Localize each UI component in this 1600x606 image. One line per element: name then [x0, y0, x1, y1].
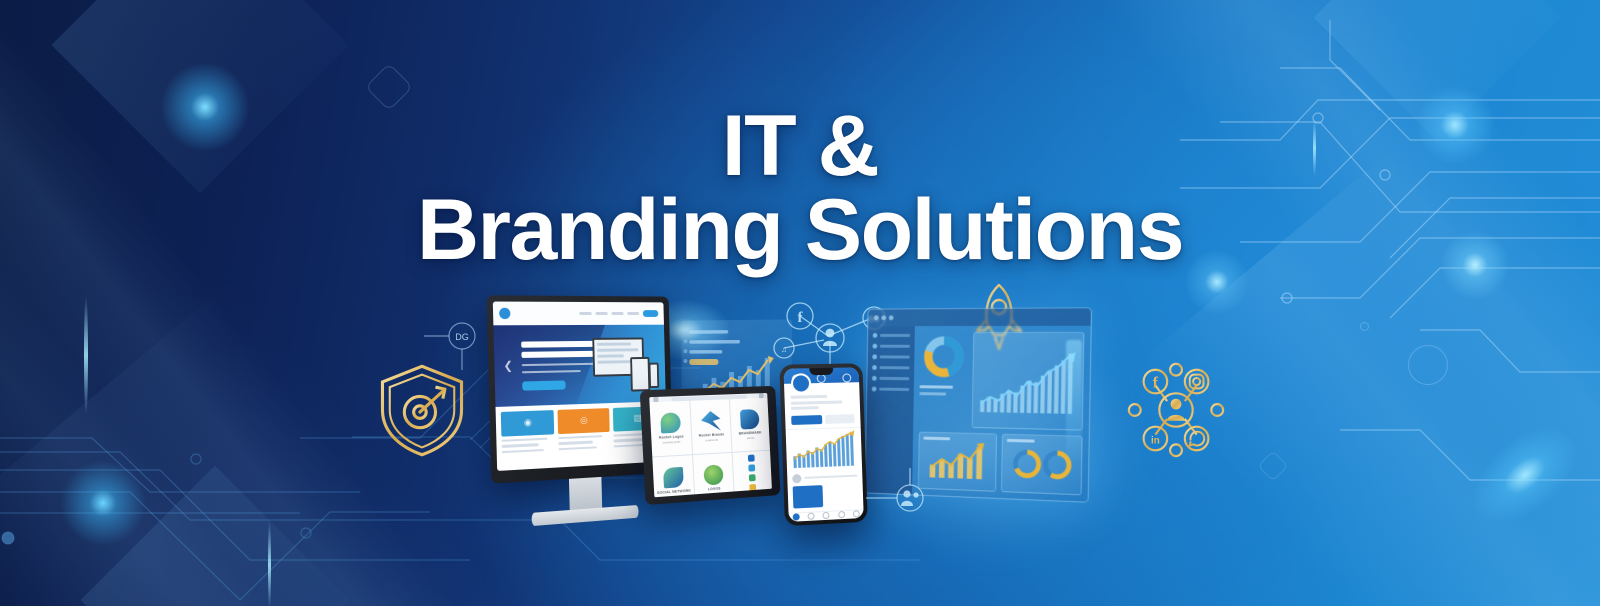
logo-subcaption: design co: [709, 492, 720, 496]
phone-notch: [809, 368, 833, 375]
tablet-logo-portfolio: Rocket Logos branding studio Rocket Bran…: [640, 386, 781, 505]
monitor-stand-base: [532, 505, 639, 526]
cloud-node-icon: DG: [410, 312, 490, 392]
svg-text:f: f: [1153, 374, 1159, 391]
logo-cell: LOGOS design co: [693, 453, 734, 497]
logo-subcaption: creative lab: [705, 439, 718, 443]
light-streak-decor: [1066, 340, 1082, 460]
logo-swatch-list: [733, 451, 772, 498]
dashboard-titlebar: [868, 308, 1091, 326]
monitor-site-nav: [493, 302, 664, 326]
home-icon[interactable]: [793, 514, 800, 521]
upload-icon: [817, 374, 826, 383]
carousel-prev-icon[interactable]: ❮: [503, 359, 513, 373]
device-composition: f ♫ DG ❮: [470, 268, 1110, 558]
profile-icon[interactable]: [853, 511, 860, 518]
hero-cta-button[interactable]: [522, 380, 566, 390]
phone-engagement-chart: [786, 426, 862, 470]
users-icon: [842, 374, 851, 383]
logo-cell: Rocket Brands creative lab: [690, 399, 731, 454]
hero-banner: IT & Branding Solutions f in: [0, 0, 1600, 606]
add-icon[interactable]: [823, 512, 830, 519]
user-group-node-icon: [866, 468, 936, 528]
feature-card: ◉: [501, 410, 556, 466]
post-image: [793, 485, 824, 508]
device-mockup-group: [592, 337, 659, 392]
logo-grid: Rocket Logos branding studio Rocket Bran…: [649, 398, 771, 497]
follow-button[interactable]: [791, 415, 822, 425]
site-logo-icon: [499, 308, 510, 319]
post-avatar: [792, 474, 801, 483]
logo-subcaption: identity: [747, 437, 755, 440]
logo-subcaption: community: [668, 495, 681, 497]
logo-caption: Rocket Logos: [659, 435, 684, 440]
message-button[interactable]: [824, 414, 854, 424]
search-icon[interactable]: [808, 513, 815, 520]
logo-caption: Rocket Brands: [699, 432, 725, 437]
smartphone-social-app: [779, 363, 867, 526]
logo-cell: Rocket Logos branding studio: [649, 401, 692, 457]
bell-icon[interactable]: [838, 511, 845, 518]
feature-card: ◎: [558, 408, 610, 463]
donut-chart: [919, 332, 968, 428]
svg-text:DG: DG: [455, 332, 469, 342]
logo-caption: LOGOS: [708, 487, 721, 492]
logo-cell: SOCIAL NETWORK community: [652, 455, 694, 497]
logo-cell: BRANDMARK identity: [730, 398, 770, 452]
phone-feed-post: [787, 467, 863, 512]
logo-caption: BRANDMARK: [739, 431, 762, 436]
logo-caption: SOCIAL NETWORK: [657, 489, 691, 495]
page-title: IT & Branding Solutions: [0, 104, 1600, 273]
logo-subcaption: branding studio: [663, 441, 681, 445]
svg-text:in: in: [1151, 435, 1160, 446]
nav-cta-button: [643, 310, 659, 317]
svg-text:♫: ♫: [781, 345, 787, 354]
